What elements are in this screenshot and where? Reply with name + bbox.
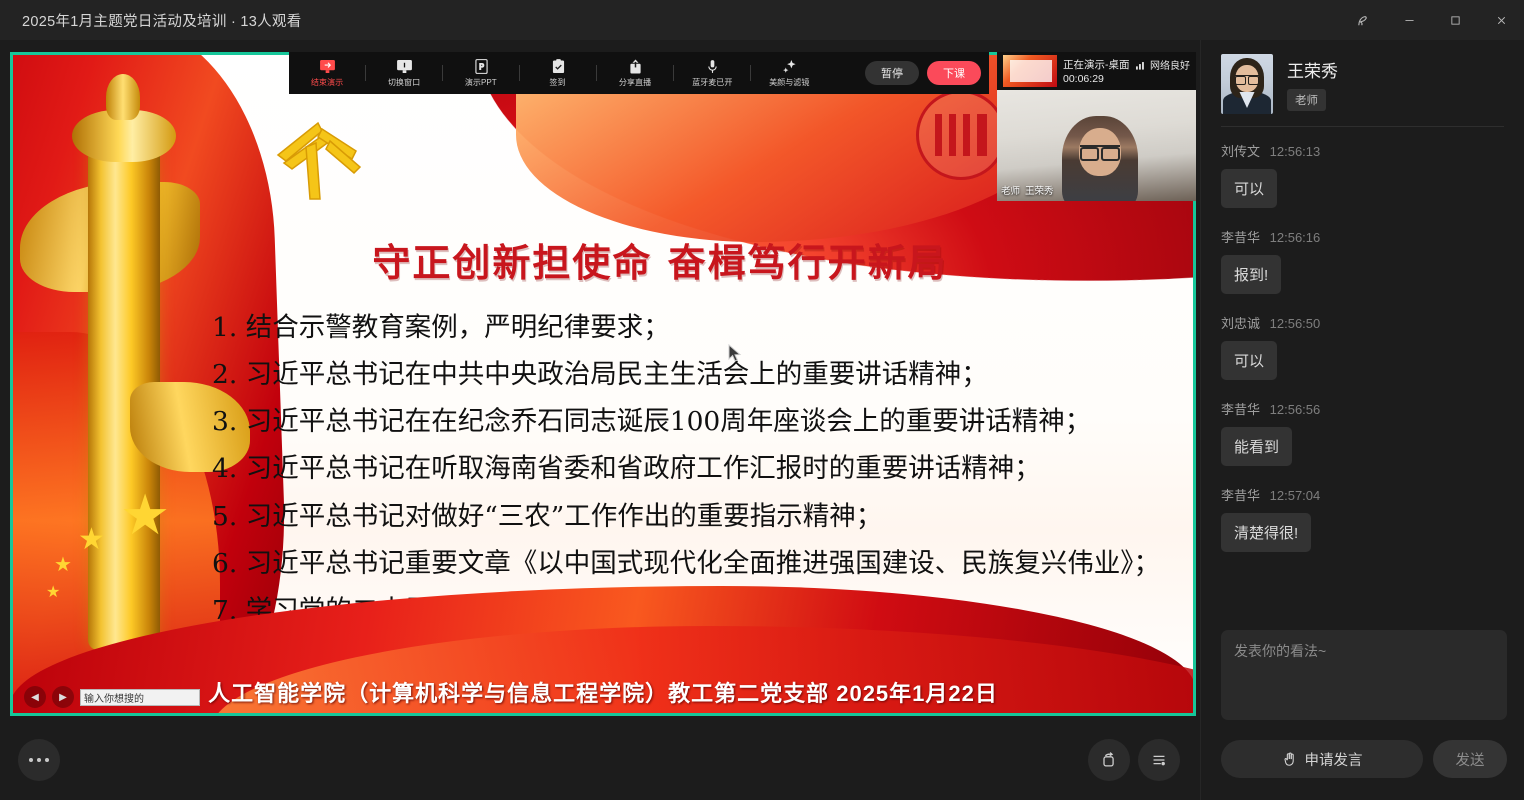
svg-text:P: P (478, 61, 483, 71)
desktop-search-placeholder: 输入你想搜的 (84, 690, 144, 705)
pip-slide-thumbnail (1003, 55, 1057, 87)
glasses-icon (1080, 145, 1120, 155)
live-class-window: 2025年1月主题党日活动及培训 · 13人观看 (0, 0, 1524, 800)
raise-hand-icon (1282, 751, 1298, 767)
avatar (1221, 54, 1273, 114)
chat-message-time: 12:56:13 (1270, 144, 1321, 159)
chat-action-row: 申请发言 发送 (1221, 740, 1507, 778)
toolbar-share-live[interactable]: 分享直播 (597, 52, 673, 94)
slide-bullet-list: 1. 结合示警教育案例，严明纪律要求； 2. 习近平总书记在中共中央政治局民主生… (212, 304, 1192, 634)
presenter-video-pip[interactable]: 正在演示-桌面 网络良好 00:06:29 老师 王荣秀 (997, 52, 1196, 201)
bottom-toolbar (0, 720, 1200, 800)
minimize-icon[interactable] (1386, 0, 1432, 40)
feedback-icon[interactable] (1340, 0, 1386, 40)
switch-window-icon (397, 59, 412, 74)
slide-decor-star-tiny: ★ (46, 582, 60, 602)
chat-message-text: 清楚得很! (1221, 513, 1311, 552)
chat-message-time: 12:56:56 (1270, 402, 1321, 417)
slide-bullet-2: 2. 习近平总书记在中共中央政治局民主生活会上的重要讲话精神； (212, 351, 1192, 398)
chat-message: 刘传文 12:56:13 可以 (1221, 141, 1504, 208)
window-title: 2025年1月主题党日活动及培训 · 13人观看 (22, 10, 302, 31)
stop-present-icon (320, 59, 335, 74)
raise-hand-button[interactable]: 申请发言 (1221, 740, 1423, 778)
slide-decor-star-mid: ★ (78, 522, 105, 557)
rotate-screen-button[interactable] (1088, 739, 1130, 781)
send-button[interactable]: 发送 (1433, 740, 1507, 778)
toolbar-microphone-label: 蓝牙麦已开 (692, 76, 732, 87)
chat-composer-input[interactable]: 发表你的看法~ (1221, 630, 1507, 720)
chat-message-time: 12:57:04 (1270, 488, 1321, 503)
pip-status-title: 正在演示-桌面 (1063, 57, 1130, 72)
mouse-cursor (728, 344, 742, 364)
toolbar-stop-present-label: 结束演示 (311, 76, 343, 87)
beauty-filter-icon (782, 59, 797, 74)
chat-message-author: 李昔华 (1221, 488, 1260, 503)
more-dots-icon (29, 758, 49, 762)
close-icon[interactable] (1478, 0, 1524, 40)
window-controls (1340, 0, 1524, 40)
toolbar-beauty-filter[interactable]: 美颜与滤镜 (751, 52, 827, 94)
pip-network-status: 网络良好 (1136, 57, 1190, 72)
chat-message-time: 12:56:16 (1270, 230, 1321, 245)
toolbar-checkin-label: 签到 (550, 76, 566, 87)
pause-button[interactable]: 暂停 (865, 61, 919, 85)
presentation-toolbar: 结束演示 切换窗口 P 演示PPT 签到 分享直播 (289, 52, 989, 94)
toolbar-checkin[interactable]: 签到 (520, 52, 596, 94)
slide-bullet-4: 4. 习近平总书记在听取海南省委和省政府工作汇报时的重要讲话精神； (212, 445, 1192, 492)
chat-composer-placeholder: 发表你的看法~ (1234, 643, 1326, 659)
chat-message-text: 可以 (1221, 341, 1277, 380)
list-settings-button[interactable] (1138, 739, 1180, 781)
slide-bullet-1: 1. 结合示警教育案例，严明纪律要求； (212, 304, 1192, 351)
slide-decor-star-large: ★ (120, 482, 170, 548)
slide-decor-star-small: ★ (54, 552, 72, 577)
pip-elapsed-time: 00:06:29 (1063, 73, 1190, 85)
title-bar: 2025年1月主题党日活动及培训 · 13人观看 (0, 0, 1524, 40)
end-class-button[interactable]: 下课 (927, 61, 981, 85)
party-emblem-icon (260, 107, 380, 217)
chat-message-author: 李昔华 (1221, 402, 1260, 417)
university-logo-icon (916, 90, 1006, 180)
chat-message-list[interactable]: 刘传文 12:56:13 可以 李昔华 12:56:16 报到! 刘忠诚 12:… (1201, 127, 1524, 552)
slide-footer-text: 人工智能学院（计算机科学与信息工程学院）教工第二党支部 2025年1月22日 (208, 676, 998, 708)
chat-message-author: 李昔华 (1221, 230, 1260, 245)
chat-message: 李昔华 12:56:56 能看到 (1221, 399, 1504, 466)
toolbar-present-ppt-label: 演示PPT (465, 76, 497, 87)
pip-header: 正在演示-桌面 网络良好 00:06:29 (997, 52, 1196, 90)
raise-hand-label: 申请发言 (1305, 749, 1363, 770)
chat-message-author: 刘传文 (1221, 144, 1260, 159)
chat-message-text: 能看到 (1221, 427, 1292, 466)
nav-prev-icon[interactable]: ◀ (24, 686, 46, 708)
slide-bullet-5: 5. 习近平总书记对做好“三农”工作作出的重要指示精神； (212, 493, 1192, 540)
desktop-search-input[interactable]: 输入你想搜的 (80, 689, 200, 706)
toolbar-stop-present[interactable]: 结束演示 (289, 52, 365, 94)
chat-message: 李昔华 12:56:16 报到! (1221, 227, 1504, 294)
chat-message-author: 刘忠诚 (1221, 316, 1260, 331)
chat-message-text: 可以 (1221, 169, 1277, 208)
rotate-icon (1099, 750, 1119, 770)
pip-name-label: 老师 王荣秀 (1001, 183, 1054, 197)
microphone-icon (705, 59, 720, 74)
toolbar-beauty-filter-label: 美颜与滤镜 (769, 76, 809, 87)
nav-next-icon[interactable]: ▶ (52, 686, 74, 708)
current-user-header: 王荣秀 老师 (1201, 40, 1524, 126)
slide-bullet-3: 3. 习近平总书记在在纪念乔石同志诞辰100周年座谈会上的重要讲话精神； (212, 398, 1192, 445)
checkin-icon (551, 59, 566, 74)
present-ppt-icon: P (474, 59, 489, 74)
pip-name: 王荣秀 (1025, 183, 1054, 197)
maximize-icon[interactable] (1432, 0, 1478, 40)
list-settings-icon (1149, 750, 1169, 770)
pip-role: 老师 (1001, 183, 1020, 197)
toolbar-share-live-label: 分享直播 (619, 76, 651, 87)
slide-bullet-6: 6. 习近平总书记重要文章《以中国式现代化全面推进强国建设、民族复兴伟业》； (212, 540, 1192, 587)
pip-video-feed: 老师 王荣秀 (997, 90, 1196, 201)
chat-message-time: 12:56:50 (1270, 316, 1321, 331)
share-live-icon (628, 59, 643, 74)
chat-message: 李昔华 12:57:04 清楚得很! (1221, 485, 1504, 552)
pip-network-label: 网络良好 (1150, 57, 1190, 72)
chat-message-text: 报到! (1221, 255, 1281, 294)
pip-person-silhouette (1062, 116, 1138, 201)
desktop-search-overlay[interactable]: ◀ ▶ 输入你想搜的 (24, 686, 200, 708)
more-options-button[interactable] (18, 739, 60, 781)
chat-panel: 王荣秀 老师 刘传文 12:56:13 可以 李昔华 12:56:16 报到! (1200, 40, 1524, 800)
toolbar-microphone[interactable]: 蓝牙麦已开 (674, 52, 750, 94)
signal-icon (1136, 60, 1147, 70)
current-user-name: 王荣秀 (1287, 57, 1338, 82)
chat-message: 刘忠诚 12:56:50 可以 (1221, 313, 1504, 380)
toolbar-switch-window-label: 切换窗口 (388, 76, 420, 87)
toolbar-switch-window[interactable]: 切换窗口 (366, 52, 442, 94)
current-user-role-badge: 老师 (1287, 89, 1326, 111)
slide-title: 守正创新担使命 奋楫笃行开新局 (340, 232, 980, 287)
slide-decor-pillar-top (106, 74, 140, 120)
toolbar-present-ppt[interactable]: P 演示PPT (443, 52, 519, 94)
